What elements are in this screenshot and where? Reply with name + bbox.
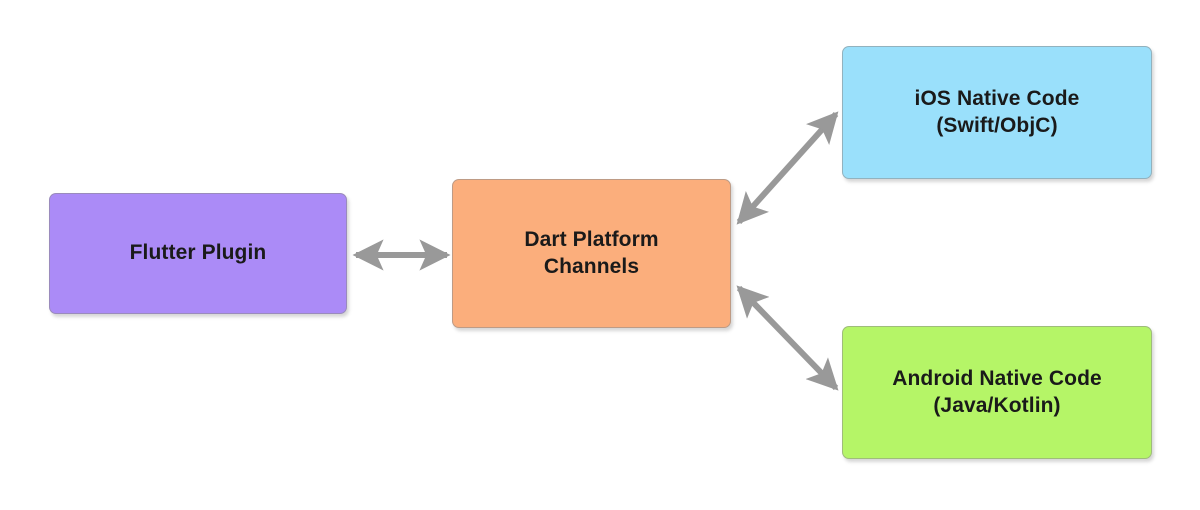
node-android-native-code-label: Android Native Code (Java/Kotlin) bbox=[882, 366, 1112, 419]
node-flutter-plugin[interactable]: Flutter Plugin bbox=[49, 193, 347, 314]
node-android-native-code[interactable]: Android Native Code (Java/Kotlin) bbox=[842, 326, 1152, 459]
node-flutter-plugin-label: Flutter Plugin bbox=[120, 240, 277, 266]
node-dart-platform-channels-label: Dart Platform Channels bbox=[514, 227, 668, 280]
connector-dart-platform-channels-to-ios-native-code bbox=[739, 114, 836, 222]
diagram-canvas: Flutter Plugin Dart Platform Channels iO… bbox=[0, 0, 1200, 510]
node-ios-native-code[interactable]: iOS Native Code (Swift/ObjC) bbox=[842, 46, 1152, 179]
node-dart-platform-channels[interactable]: Dart Platform Channels bbox=[452, 179, 731, 328]
node-ios-native-code-label: iOS Native Code (Swift/ObjC) bbox=[905, 86, 1090, 139]
connector-dart-platform-channels-to-android-native-code bbox=[739, 288, 836, 388]
